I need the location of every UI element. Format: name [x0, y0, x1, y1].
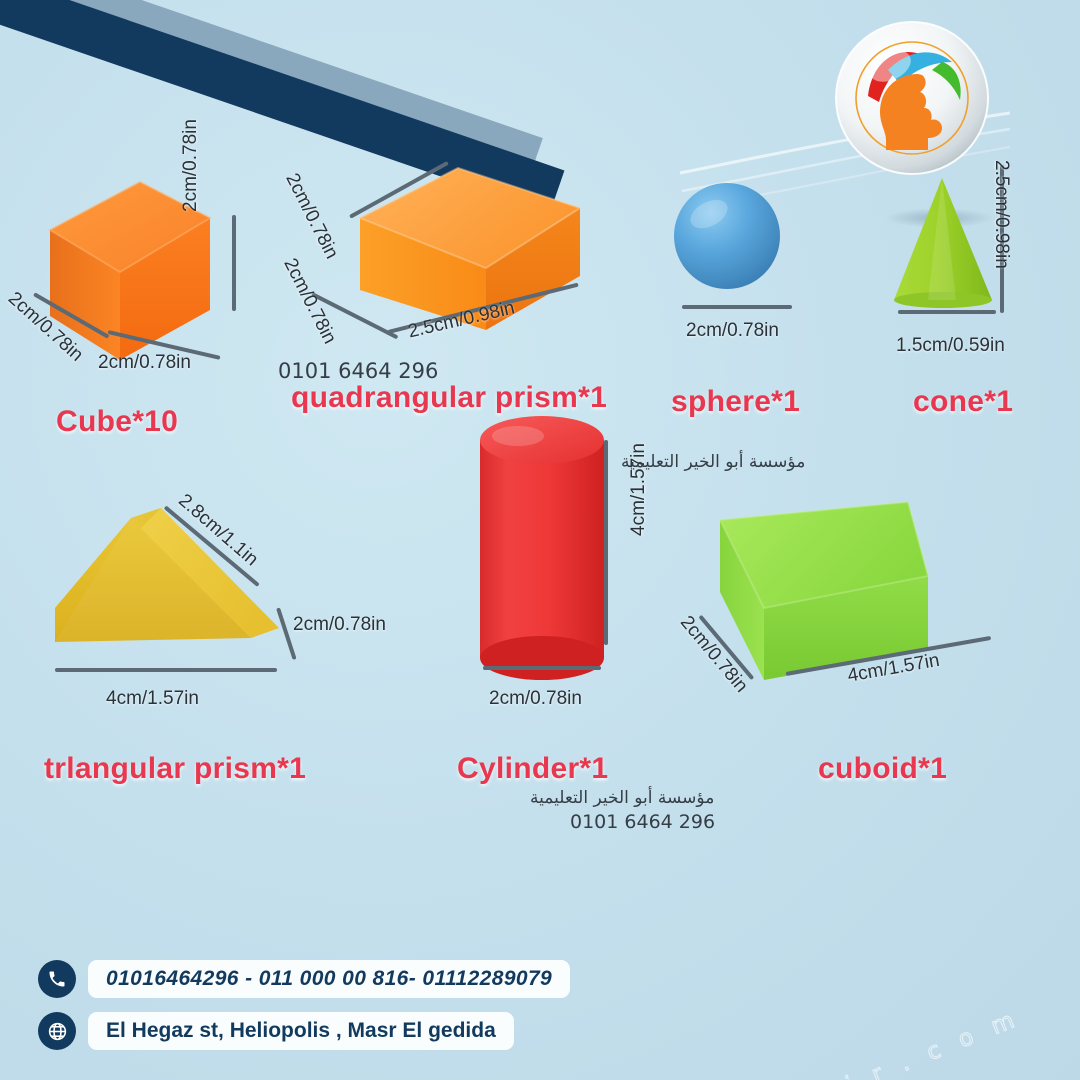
- sphere-caption: sphere*1: [671, 385, 800, 419]
- triangular-prism-caption: trlangular prism*1: [44, 752, 306, 786]
- sphere-graphic: [665, 178, 805, 318]
- contact-row-phone[interactable]: 01016464296 - 011 000 00 816- 0111228907…: [38, 960, 570, 998]
- contact-row-address[interactable]: El Hegaz st, Heliopolis , Masr El gedida: [38, 1012, 514, 1050]
- cylinder-diameter-rule: [483, 666, 601, 670]
- tri-dim-depth: 2cm/0.78in: [293, 614, 386, 636]
- globe-glyph: [47, 1021, 68, 1042]
- website-url: w w w . a b o e l k h a i r . c o m: [449, 1005, 1025, 1080]
- cube-caption: Cube*10: [56, 405, 178, 439]
- sphere-diameter-rule: [682, 305, 792, 309]
- cylinder-dim-diameter: 2cm/0.78in: [489, 688, 582, 710]
- cone-dim-height: 2.5cm/0.98in: [990, 160, 1012, 269]
- cuboid-graphic: [660, 480, 980, 710]
- cylinder-height-rule: [604, 440, 608, 645]
- phone-glyph: [47, 969, 67, 989]
- cube-dim-width: 2cm/0.78in: [98, 352, 191, 374]
- cuboid-caption: cuboid*1: [818, 752, 947, 786]
- cube-dim-height: 2cm/0.78in: [180, 119, 202, 212]
- triangular-prism-graphic: [35, 490, 305, 690]
- sphere-dim-diameter: 2cm/0.78in: [686, 320, 779, 342]
- aboelkhair-logo[interactable]: [832, 18, 992, 178]
- globe-icon: [38, 1012, 76, 1050]
- poster-canvas: w w w . a b o e l k h a i r . c o m: [0, 0, 1080, 1080]
- cone-caption: cone*1: [913, 385, 1013, 419]
- cube-height-rule: [232, 215, 236, 311]
- watermark-phone-bottom: 0101 6464 296: [570, 811, 715, 835]
- tri-base-rule: [55, 668, 277, 672]
- address-text: El Hegaz st, Heliopolis , Masr El gedida: [88, 1012, 514, 1050]
- cone-base-rule: [898, 310, 996, 314]
- phone-icon: [38, 960, 76, 998]
- phone-numbers: 01016464296 - 011 000 00 816- 0111228907…: [88, 960, 570, 998]
- quadrangular-prism-graphic: [318, 158, 618, 378]
- cone-dim-base: 1.5cm/0.59in: [896, 335, 1005, 357]
- cylinder-caption: Cylinder*1: [457, 752, 608, 786]
- tri-dim-base: 4cm/1.57in: [106, 688, 199, 710]
- watermark-arabic-bottom: مؤسسة أبو الخير التعليمية: [530, 788, 714, 809]
